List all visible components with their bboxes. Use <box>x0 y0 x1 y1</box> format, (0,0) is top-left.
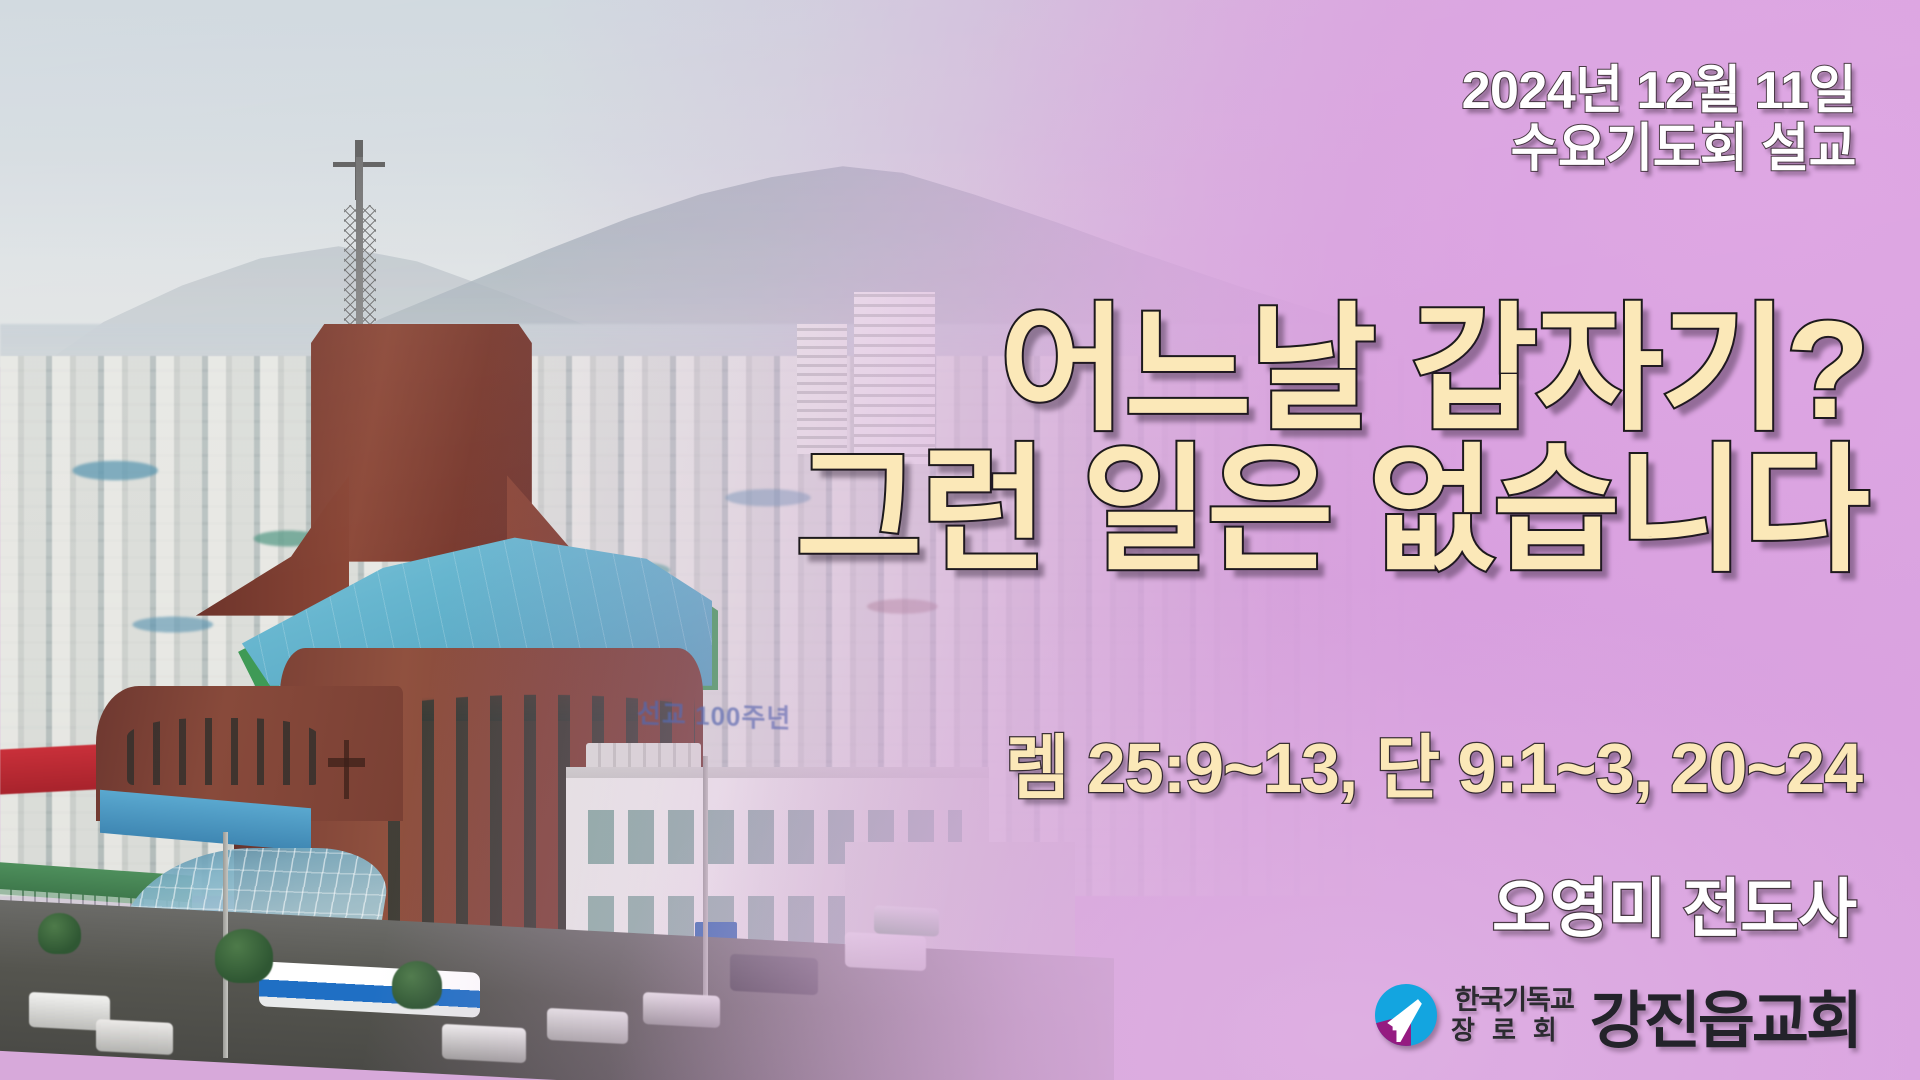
title-card-content: 2024년 12월 11일 수요기도회 설교 어느날 갑자기? 그런 일은 없습… <box>0 0 1920 1080</box>
sermon-title-block: 어느날 갑자기? 그런 일은 없습니다 <box>796 300 1868 582</box>
service-type: 수요기도회 설교 <box>1462 120 1856 178</box>
presbyterian-circle-arrow-icon <box>1375 984 1437 1046</box>
sermon-title-line-2: 그런 일은 없습니다 <box>796 441 1868 582</box>
denomination-name: 한국기독교 장로회 <box>1451 987 1574 1043</box>
sermon-title-line-1: 어느날 갑자기? <box>796 300 1868 441</box>
service-date: 2024년 12월 11일 <box>1462 62 1856 120</box>
speaker-name: 오영미 전도사 <box>1492 858 1856 950</box>
church-name: 강진읍교회 <box>1590 970 1860 1060</box>
denomination-line-1: 한국기독교 <box>1451 987 1574 1014</box>
church-logo-row: 한국기독교 장로회 강진읍교회 <box>1375 970 1860 1060</box>
denomination-line-2: 장로회 <box>1451 1017 1574 1043</box>
scripture-reference: 렘 25:9~13, 단 9:1~3, 20~24 <box>1005 712 1862 813</box>
service-date-block: 2024년 12월 11일 수요기도회 설교 <box>1462 62 1856 178</box>
sermon-title-card: 선교 100주년 2024년 12월 11일 수요기도회 설교 어느날 갑자기?… <box>0 0 1920 1080</box>
